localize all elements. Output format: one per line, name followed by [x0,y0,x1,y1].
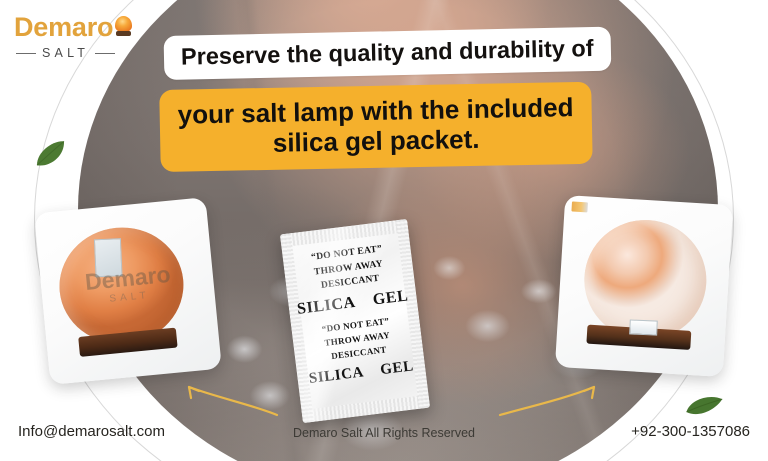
footer-phone[interactable]: +92-300-1357086 [631,423,750,440]
footer-bar: Info@demarosalt.com Demaro Salt All Righ… [0,423,768,451]
salt-lamp-dome [115,16,132,32]
packet-title-silica: SILICA [296,294,355,318]
product-image-right [555,195,733,377]
packet-title-silica-2: SILICA [308,364,364,387]
leaf-icon-right [683,392,727,427]
product-label-sticker [629,319,658,335]
headline-block: Preserve the quality and durability of y… [0,36,768,172]
salt-lamp-icon [114,16,133,37]
packet-title-gel-2: GEL [379,358,414,378]
product-card-left: Demaro SALT [34,197,222,385]
headline-line-1: Preserve the quality and durability of [164,27,611,80]
curved-arrow-right-icon [498,378,608,427]
poster-canvas: Demaro SALT Preserve the quality and dur… [0,0,768,461]
packet-title-gel: GEL [372,288,409,309]
curved-arrow-left-icon [175,378,279,427]
packet-printed-text: “DO NOT EAT” THROW AWAY DESICCANT SILICA… [282,233,429,413]
silica-gel-packet: “DO NOT EAT” THROW AWAY DESICCANT SILICA… [280,219,430,423]
headline-line-2: your salt lamp with the included silica … [159,81,592,172]
product-card-right [555,195,733,377]
attached-silica-packet [94,238,123,277]
product-image-left [34,197,222,385]
